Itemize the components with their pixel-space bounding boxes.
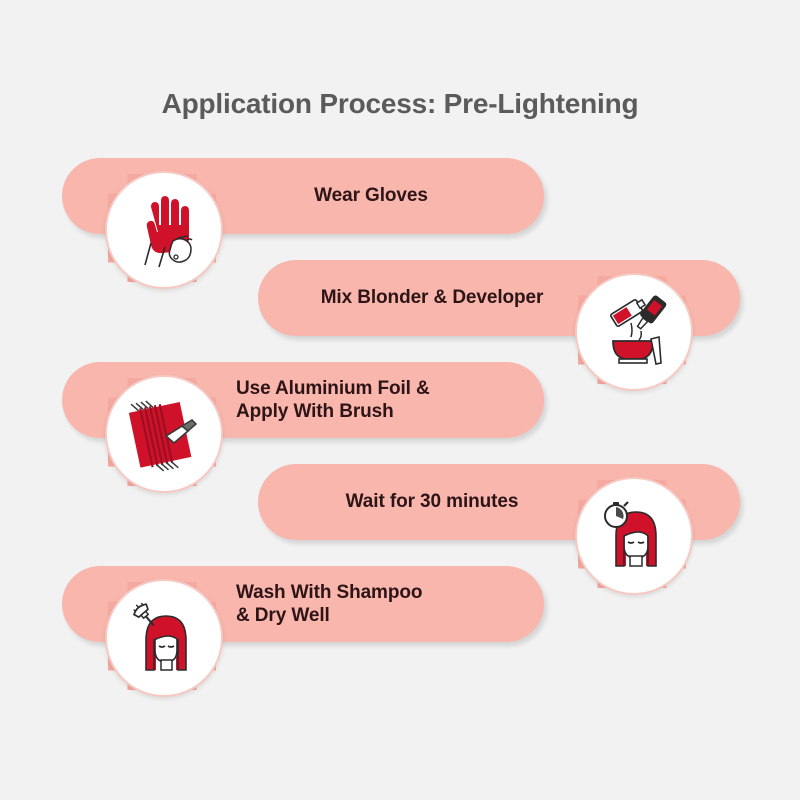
infographic-canvas: Application Process: Pre-Lightening Wear… — [0, 0, 800, 800]
page-title: Application Process: Pre-Lightening — [0, 88, 800, 120]
step-2-label: Mix Blonder & Developer — [258, 286, 572, 309]
step-5-icon-circle[interactable] — [105, 579, 223, 697]
step-4-label: Wait for 30 minutes — [258, 490, 572, 513]
shower-hair-icon — [120, 594, 208, 682]
step-1-label: Wear Gloves — [236, 184, 544, 207]
process-step-5: Wash With Shampoo & Dry Well — [0, 566, 800, 706]
step-3-label: Use Aluminium Foil & Apply With Brush — [236, 377, 544, 423]
step-5-label: Wash With Shampoo & Dry Well — [236, 581, 544, 627]
